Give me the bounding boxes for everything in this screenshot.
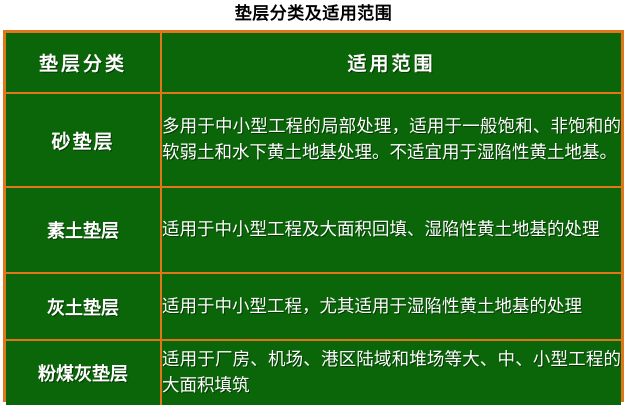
header-label-scope: 适用范围 — [162, 49, 621, 76]
category-label: 灰土垫层 — [6, 294, 160, 320]
cushion-classification-table: 垫层分类 适用范围 砂垫层 多用于中小型工程的局部处理，适用于一般饱和、非饱和的… — [6, 33, 621, 405]
scope-text: 适用于中小型工程，尤其适用于湿陷性黄土地基的处理 — [162, 294, 621, 320]
table-row: 素土垫层 适用于中小型工程及大面积回填、湿陷性黄土地基的处理 — [6, 187, 621, 273]
category-label: 素土垫层 — [6, 217, 160, 243]
table-header-row: 垫层分类 适用范围 — [6, 33, 621, 93]
table-row: 粉煤灰垫层 适用于厂房、机场、港区陆域和堆场等大、中、小型工程的大面积填筑 — [6, 340, 621, 405]
scope-text: 适用于厂房、机场、港区陆域和堆场等大、中、小型工程的大面积填筑 — [162, 347, 621, 399]
row-category-plain-soil: 素土垫层 — [6, 187, 161, 273]
row-category-sand: 砂垫层 — [6, 93, 161, 187]
header-cell-scope: 适用范围 — [161, 33, 621, 93]
cushion-classification-table-wrapper: 垫层分类 适用范围 砂垫层 多用于中小型工程的局部处理，适用于一般饱和、非饱和的… — [3, 30, 624, 402]
page-title: 垫层分类及适用范围 — [0, 0, 627, 30]
row-scope-fly-ash: 适用于厂房、机场、港区陆域和堆场等大、中、小型工程的大面积填筑 — [161, 340, 621, 405]
category-label: 砂垫层 — [6, 127, 160, 154]
row-scope-sand: 多用于中小型工程的局部处理，适用于一般饱和、非饱和的软弱土和水下黄土地基处理。不… — [161, 93, 621, 187]
row-category-lime-soil: 灰土垫层 — [6, 273, 161, 340]
header-cell-category: 垫层分类 — [6, 33, 161, 93]
row-scope-lime-soil: 适用于中小型工程，尤其适用于湿陷性黄土地基的处理 — [161, 273, 621, 340]
category-label: 粉煤灰垫层 — [6, 360, 160, 386]
scope-text: 多用于中小型工程的局部处理，适用于一般饱和、非饱和的软弱土和水下黄土地基处理。不… — [162, 114, 621, 166]
slide-page: 垫层分类及适用范围 垫层分类 适用范围 砂垫层 — [0, 0, 627, 402]
table-row: 砂垫层 多用于中小型工程的局部处理，适用于一般饱和、非饱和的软弱土和水下黄土地基… — [6, 93, 621, 187]
header-label-category: 垫层分类 — [6, 49, 160, 76]
row-scope-plain-soil: 适用于中小型工程及大面积回填、湿陷性黄土地基的处理 — [161, 187, 621, 273]
scope-text: 适用于中小型工程及大面积回填、湿陷性黄土地基的处理 — [162, 217, 621, 243]
table-row: 灰土垫层 适用于中小型工程，尤其适用于湿陷性黄土地基的处理 — [6, 273, 621, 340]
row-category-fly-ash: 粉煤灰垫层 — [6, 340, 161, 405]
